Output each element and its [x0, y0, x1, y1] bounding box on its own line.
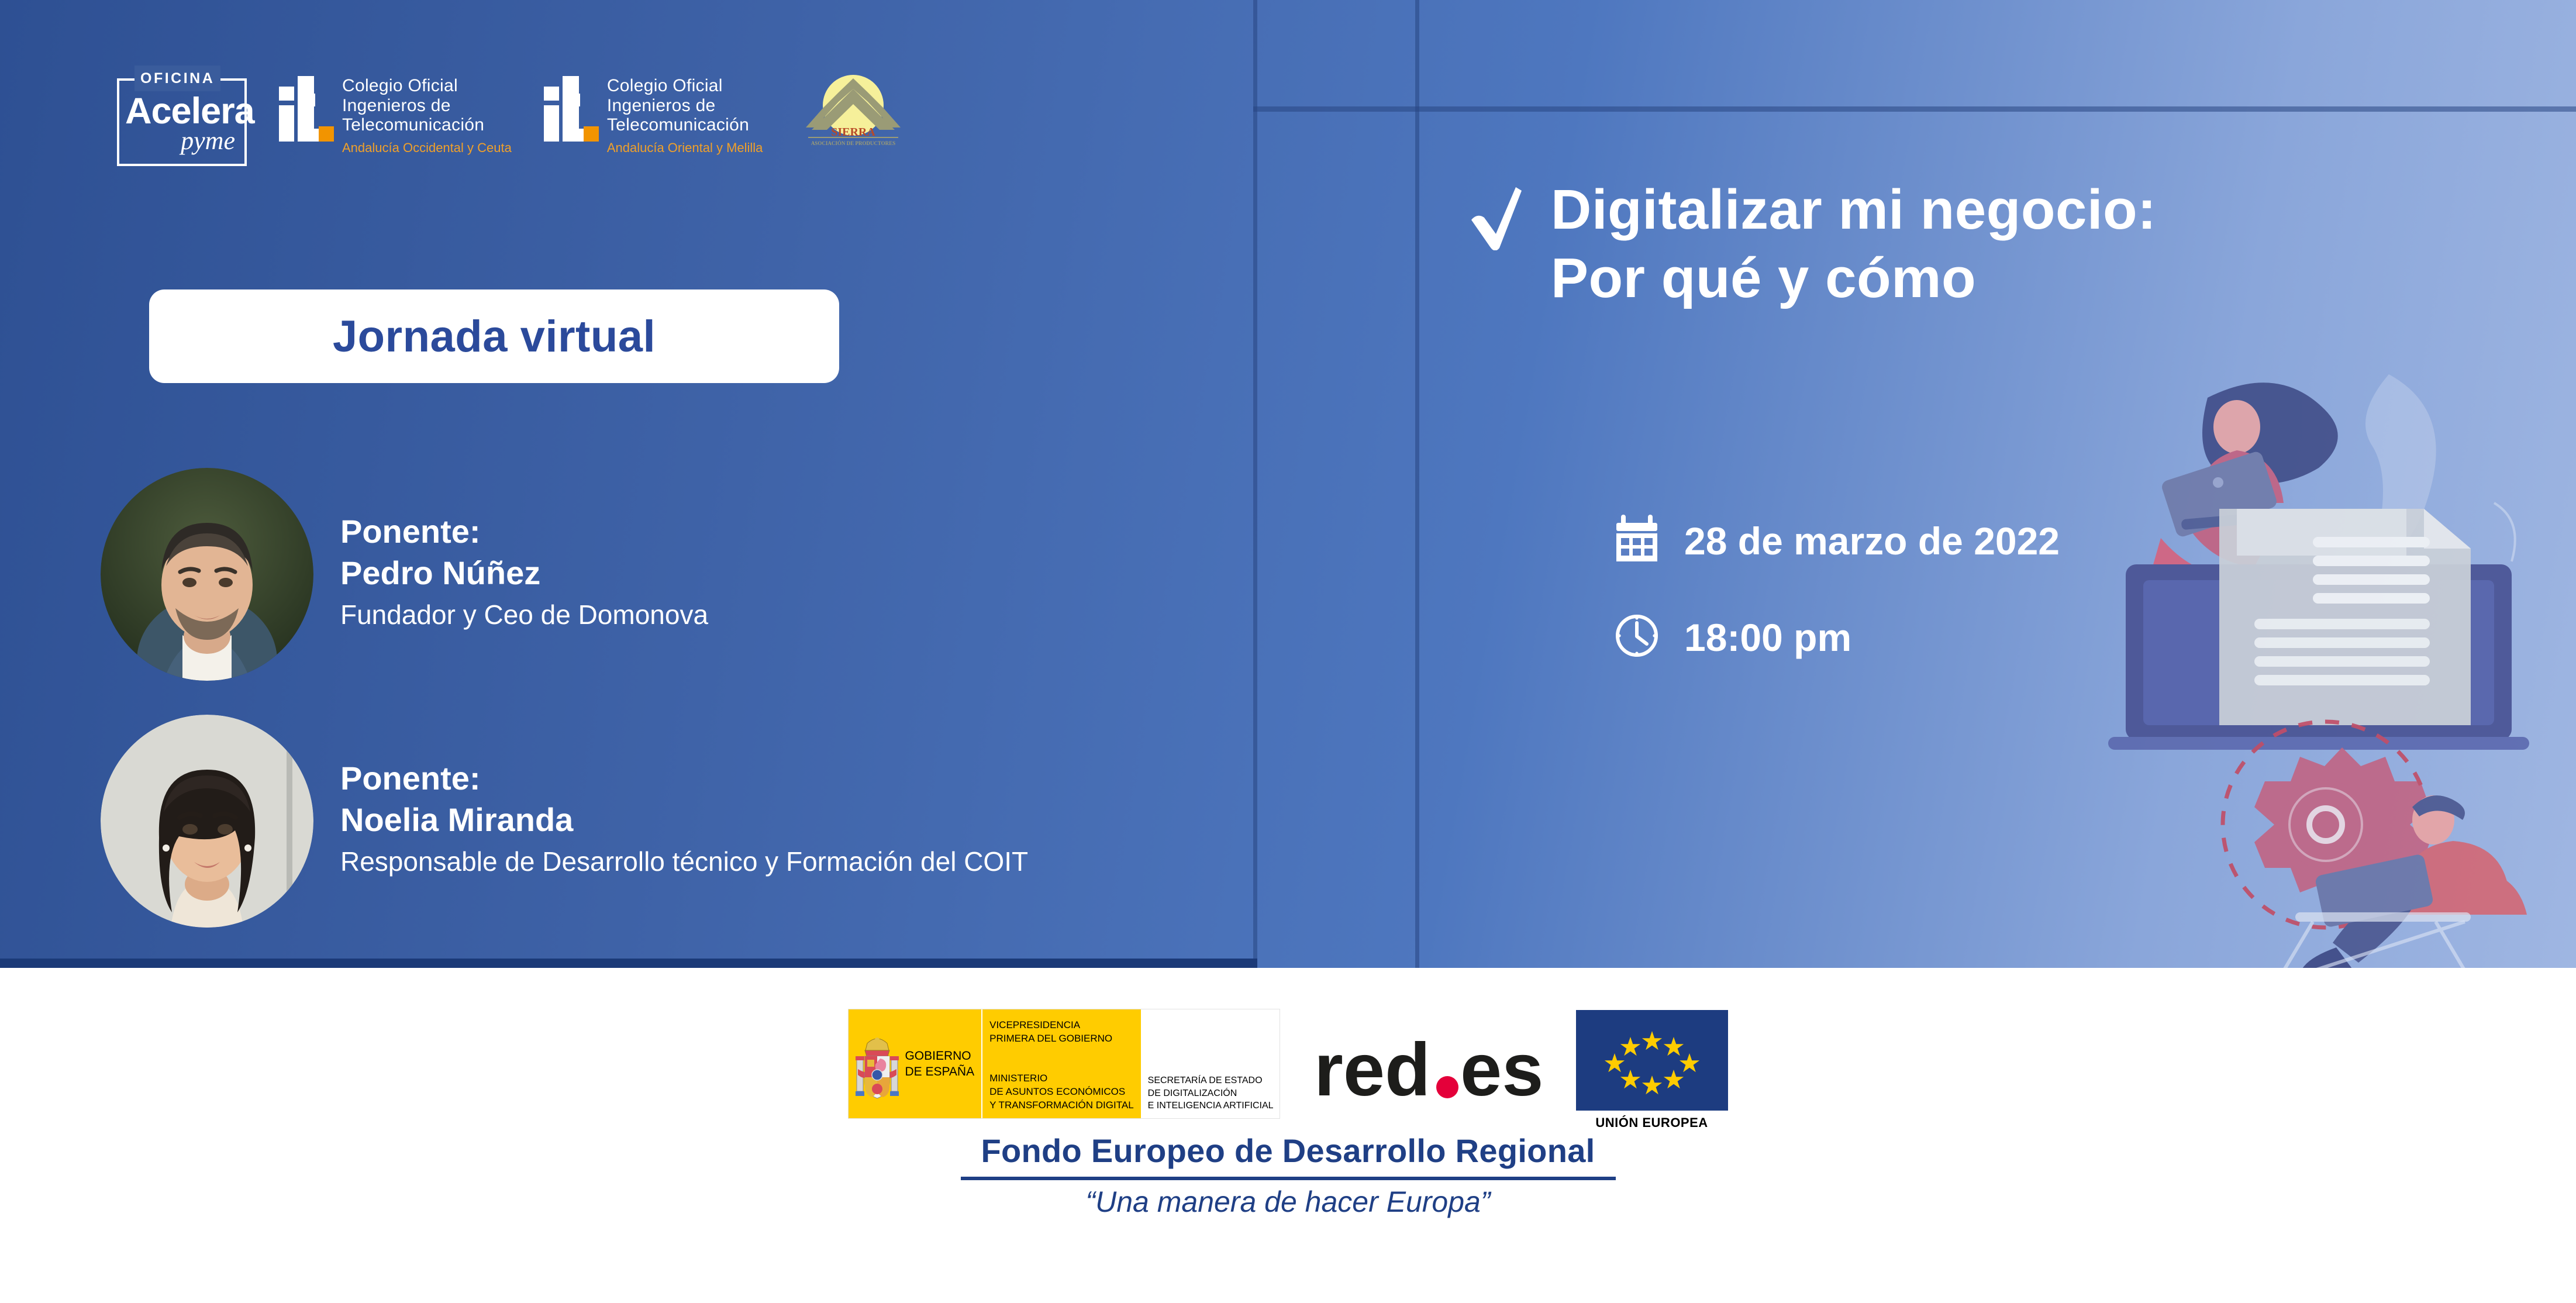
headline-line-2: Por qué y cómo	[1551, 244, 2157, 312]
event-date-text: 28 de marzo de 2022	[1684, 519, 2060, 563]
speaker-name: Noelia Miranda	[340, 799, 1028, 842]
acelera-oficina-label: OFICINA	[135, 66, 220, 91]
panel-divider-vertical-2	[1415, 0, 1419, 968]
vicepresidencia-line1: VICEPRESIDENCIA	[989, 1019, 1134, 1032]
coit-east-line3: Telecomunicación	[607, 115, 763, 135]
acelera-word: Acelera	[125, 91, 254, 131]
event-time-text: 18:00 pm	[1684, 615, 1851, 660]
avatar	[101, 715, 313, 928]
gobierno-line2: DE ESPAÑA	[905, 1064, 974, 1080]
feder-title: Fondo Europeo de Desarrollo Regional	[981, 1132, 1595, 1174]
panel-divider-horizontal	[1253, 106, 2576, 112]
speaker-role-label: Ponente:	[340, 511, 708, 552]
ministerio-line2: DE ASUNTOS ECONÓMICOS	[989, 1085, 1134, 1099]
eu-label: UNIÓN EUROPEA	[1595, 1115, 1708, 1130]
event-time-row: 18:00 pm	[1614, 612, 2060, 662]
event-date-row: 28 de marzo de 2022	[1614, 515, 2060, 567]
ministerio-line3: Y TRANSFORMACIÓN DIGITAL	[989, 1099, 1134, 1112]
secretaria-line2: DE DIGITALIZACIÓN	[1148, 1087, 1274, 1100]
footer-logo-row: GOBIERNO DE ESPAÑA VICEPRESIDENCIA PRIME…	[0, 1009, 2576, 1130]
feder-text-block: Fondo Europeo de Desarrollo Regional “Un…	[0, 1132, 2576, 1219]
redes-dot-icon	[1436, 1076, 1458, 1098]
coit-east-line2: Ingenieros de	[607, 96, 763, 116]
coit-east-text: Colegio Oficial Ingenieros de Telecomuni…	[607, 76, 763, 155]
speaker-name: Pedro Núñez	[340, 552, 708, 595]
redes-text-red: red	[1314, 1035, 1430, 1111]
event-poster: OFICINA Acelera pyme Colegio Oficial Ing…	[0, 0, 2576, 1303]
speaker-title: Fundador y Ceo de Domonova	[340, 597, 708, 633]
feder-slogan: “Una manera de hacer Europa”	[0, 1185, 2576, 1219]
ministerio-cell: VICEPRESIDENCIA PRIMERA DEL GOBIERNO MIN…	[982, 1009, 1142, 1118]
speaker-info: Ponente: Pedro Núñez Fundador y Ceo de D…	[340, 511, 708, 638]
eu-flag-icon	[1576, 1010, 1728, 1111]
redes-text-es: es	[1460, 1035, 1542, 1111]
coit-west-line1: Colegio Oficial	[342, 76, 512, 96]
sierra-de-las-nieves-logo: SIERRA ASOCIACIÓN DE PRODUCTORES	[798, 71, 909, 159]
jornada-virtual-label: Jornada virtual	[333, 311, 656, 362]
acelera-pyme-word: pyme	[181, 126, 235, 156]
coit-west-line3: Telecomunicación	[342, 115, 512, 135]
vicepresidencia-line2: PRIMERA DEL GOBIERNO	[989, 1032, 1134, 1046]
partner-logo-row: OFICINA Acelera pyme Colegio Oficial Ing…	[117, 66, 909, 166]
speaker-role-label: Ponente:	[340, 758, 1028, 799]
coit-andalucia-occidental-logo: Colegio Oficial Ingenieros de Telecomuni…	[279, 66, 512, 155]
coit-west-text: Colegio Oficial Ingenieros de Telecomuni…	[342, 76, 512, 155]
check-mark-icon	[1468, 186, 1524, 253]
coit-east-region: Andalucía Oriental y Melilla	[607, 141, 763, 156]
coit-east-line1: Colegio Oficial	[607, 76, 763, 96]
speaker-row: Ponente: Noelia Miranda Responsable de D…	[101, 715, 1028, 928]
headline-block: Digitalizar mi negocio: Por qué y cómo	[1468, 175, 2157, 312]
secretaria-line1: SECRETARÍA DE ESTADO	[1148, 1074, 1274, 1087]
gobierno-cell: GOBIERNO DE ESPAÑA	[849, 1009, 982, 1118]
coit-west-region: Andalucía Occidental y Ceuta	[342, 141, 512, 156]
clock-icon	[1614, 612, 1660, 662]
it-logo-icon	[279, 76, 333, 142]
it-logo-icon	[544, 76, 598, 142]
speaker-info: Ponente: Noelia Miranda Responsable de D…	[340, 758, 1028, 885]
secretaria-line3: E INTELIGENCIA ARTIFICIAL	[1148, 1099, 1274, 1112]
gobierno-words: GOBIERNO DE ESPAÑA	[905, 1048, 974, 1080]
gobierno-de-espana-logo: GOBIERNO DE ESPAÑA VICEPRESIDENCIA PRIME…	[848, 1009, 1280, 1119]
mountain-sun-icon: SIERRA ASOCIACIÓN DE PRODUCTORES	[798, 71, 909, 159]
secretaria-cell: SECRETARÍA DE ESTADO DE DIGITALIZACIÓN E…	[1142, 1009, 1280, 1118]
sierra-subtitle: ASOCIACIÓN DE PRODUCTORES	[811, 140, 895, 146]
headline-text: Digitalizar mi negocio: Por qué y cómo	[1551, 175, 2157, 312]
gobierno-line1: GOBIERNO	[905, 1048, 974, 1064]
headline-line-1: Digitalizar mi negocio:	[1551, 175, 2157, 244]
panel-divider-vertical-1	[1253, 0, 1257, 968]
speaker-title: Responsable de Desarrollo técnico y Form…	[340, 843, 1028, 880]
feder-rule	[961, 1177, 1616, 1180]
event-meta-block: 28 de marzo de 2022 18:00 pm	[1614, 515, 2060, 662]
speaker-row: Ponente: Pedro Núñez Fundador y Ceo de D…	[101, 468, 708, 681]
coit-west-line2: Ingenieros de	[342, 96, 512, 116]
redes-logo: red es	[1314, 1035, 1542, 1114]
spain-coat-of-arms-icon	[854, 1026, 900, 1102]
eu-logo-block: UNIÓN EUROPEA	[1576, 1010, 1728, 1130]
calendar-icon	[1614, 515, 1660, 567]
coit-andalucia-oriental-logo: Colegio Oficial Ingenieros de Telecomuni…	[544, 66, 763, 155]
jornada-virtual-badge: Jornada virtual	[149, 289, 839, 383]
hero-section: OFICINA Acelera pyme Colegio Oficial Ing…	[0, 0, 2576, 968]
ministerio-line1: MINISTERIO	[989, 1072, 1134, 1085]
hero-bottom-rule	[0, 959, 1257, 968]
digital-workers-laptop-illustration	[2061, 363, 2576, 968]
sierra-name-main: SIERRA	[832, 126, 876, 139]
avatar	[101, 468, 313, 681]
footer-section: GOBIERNO DE ESPAÑA VICEPRESIDENCIA PRIME…	[0, 968, 2576, 1303]
acelera-pyme-logo: OFICINA Acelera pyme	[117, 66, 247, 166]
